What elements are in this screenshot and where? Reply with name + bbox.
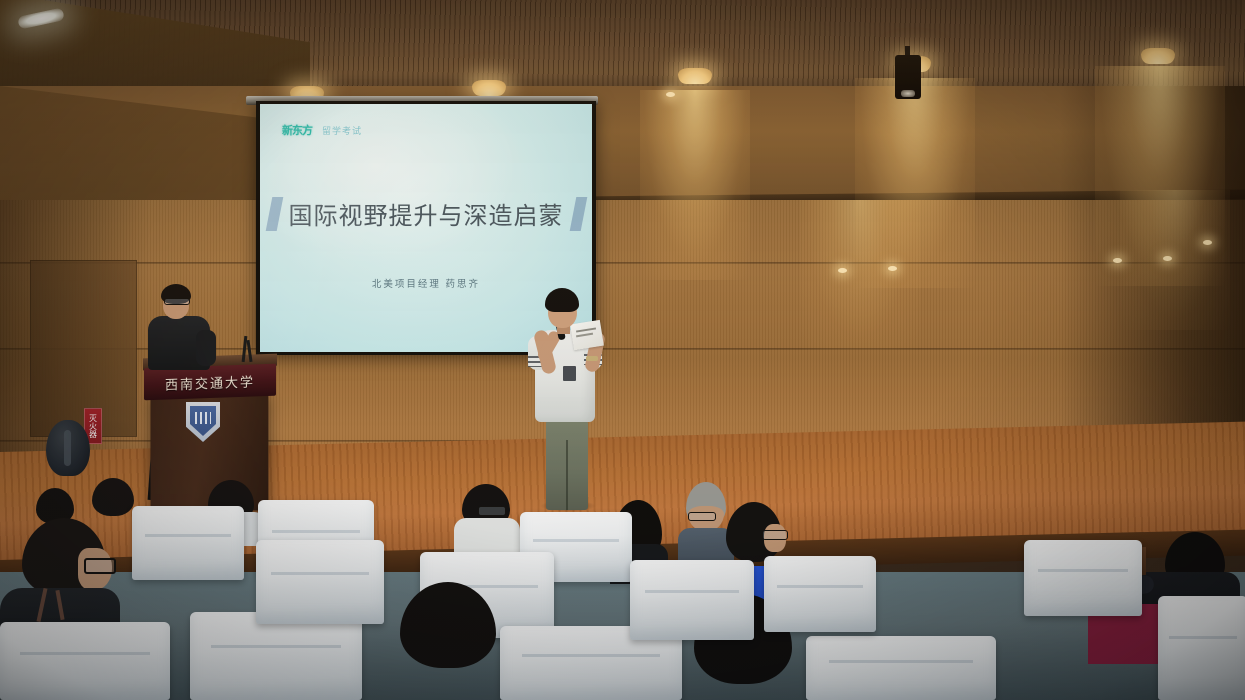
ceiling-lamp-icon — [472, 80, 506, 96]
recessed-spot-icon — [1203, 240, 1212, 245]
seat-cover — [0, 622, 170, 700]
speaker-wristwatch — [586, 356, 598, 361]
seat-cover — [190, 612, 362, 700]
seat-cover — [630, 560, 754, 640]
lecture-hall-photo: 新东方 留学考试 国际视野提升与深造启蒙 北美项目经理 药思齐 灭火器 西南交通… — [0, 0, 1245, 700]
university-emblem-mark — [195, 412, 211, 424]
recessed-spot-icon — [666, 92, 675, 97]
operator-glasses-icon — [164, 298, 190, 305]
seat-cover — [1024, 540, 1142, 616]
seat-cover — [806, 636, 996, 700]
screen-glare — [260, 104, 592, 352]
speaker-leg-seam — [566, 440, 568, 510]
seat-cover — [132, 506, 244, 580]
fire-sign-label: 灭火器 — [89, 414, 98, 438]
recessed-spot-icon — [1113, 258, 1122, 263]
recessed-spot-icon — [888, 266, 897, 271]
recessed-spot-icon — [1163, 256, 1172, 261]
attendee-blue-shirt-glasses-icon — [762, 530, 788, 540]
wall-seam — [0, 262, 1245, 264]
podium-nameplate-text: 西南交通大学 — [165, 371, 255, 393]
speaker-shirt-graphic — [563, 366, 576, 381]
recessed-spot-icon — [838, 268, 847, 273]
attendee-glasses-left-glasses-icon — [84, 558, 116, 574]
ceiling-lamp-icon — [1141, 48, 1175, 64]
slide-surface: 新东方 留学考试 国际视野提升与深造启蒙 北美项目经理 药思齐 — [260, 104, 592, 352]
attendee-row0b-body — [454, 518, 520, 552]
seat-cover — [1158, 596, 1245, 700]
attendee-row0b-glasses-icon — [478, 506, 506, 516]
operator-arm — [196, 330, 216, 366]
seat-cover — [764, 556, 876, 632]
ceiling-lamp-icon — [678, 68, 712, 84]
projector-lens-icon — [901, 90, 915, 97]
projection-screen: 新东方 留学考试 国际视野提升与深造启蒙 北美项目经理 药思齐 — [256, 101, 596, 355]
attendee-far-left2-head — [92, 478, 134, 516]
attendee-grey-hair-glasses-icon — [688, 512, 716, 521]
backpack-strap — [64, 430, 71, 466]
seat-cover — [256, 540, 384, 624]
